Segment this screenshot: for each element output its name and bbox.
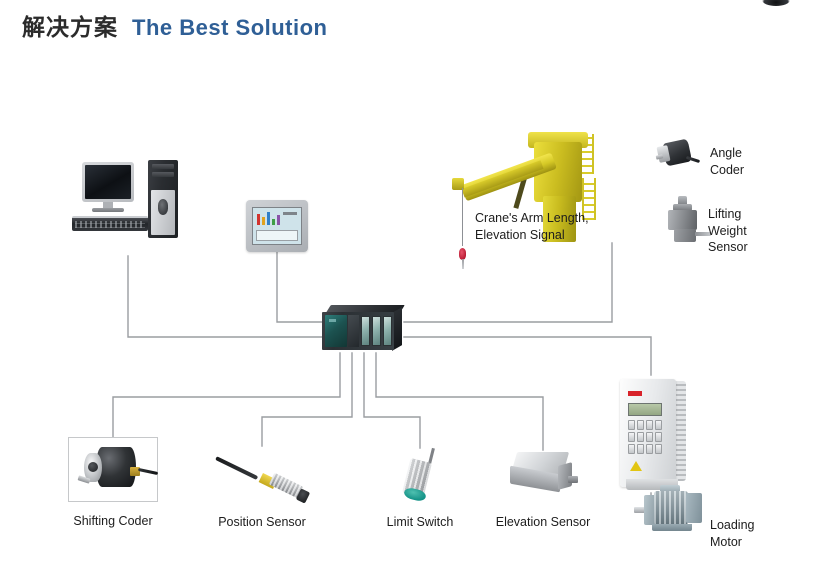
hmi-bezel — [246, 200, 308, 252]
pc-monitor — [82, 162, 134, 202]
crane-hook — [462, 259, 464, 269]
lifting-weight-sensor-label: Lifting Weight Sensor — [708, 206, 748, 256]
elevation-sensor-label: Elevation Sensor — [494, 514, 592, 531]
pc-drive-bays — [152, 164, 174, 186]
position-sensor-assembly — [212, 446, 312, 496]
hmi-value-field — [256, 230, 298, 241]
plc-io-module-3 — [383, 316, 392, 346]
plc-controller[interactable] — [322, 305, 404, 353]
crane: Crane's Arm Length, Elevation Signal — [440, 112, 640, 262]
pc-tower-front-panel — [151, 190, 175, 235]
wire-hmi-to-plc — [277, 252, 322, 322]
hmi-status-bar — [283, 212, 297, 215]
wire-pc-to-plc — [128, 256, 322, 337]
elevation-sensor-connector — [568, 476, 578, 483]
motor-frame — [654, 491, 688, 525]
vfd-enclosure — [620, 379, 676, 487]
vfd-keypad[interactable] — [628, 420, 662, 454]
solution-diagram: 解决方案 The Best Solution — [0, 0, 830, 561]
position-sensor-cable — [215, 456, 258, 480]
motor-fan-cover — [686, 493, 702, 523]
wire-plc-to-shifting-coder — [113, 353, 340, 437]
crane-hoist-cable — [462, 188, 463, 246]
vfd-drive[interactable] — [616, 375, 690, 493]
wire-plc-to-elevation-sensor — [376, 353, 543, 450]
crane-signal-label: Crane's Arm Length, Elevation Signal — [475, 210, 589, 243]
angle-coder-label: Angle Coder — [710, 145, 744, 178]
shifting-coder-label: Shifting Coder — [56, 513, 170, 530]
pc-monitor-base — [92, 208, 124, 212]
position-sensor-label: Position Sensor — [206, 514, 318, 531]
plc-io-module-2 — [372, 316, 381, 346]
load-cell-base — [674, 229, 696, 242]
plc-power-module — [348, 315, 359, 347]
motor-mounting-feet — [652, 524, 692, 531]
hmi-bar-graph — [257, 211, 280, 225]
limit-switch: Limit Switch — [390, 448, 450, 498]
vfd-brand-logo — [628, 391, 642, 396]
plc-cpu-module — [325, 315, 347, 347]
pc-tower — [148, 160, 178, 238]
shifting-coder-hub — [88, 462, 98, 472]
operator-pc[interactable] — [70, 160, 180, 255]
hmi-screen — [252, 207, 302, 245]
limit-switch-label: Limit Switch — [384, 514, 456, 531]
shifting-coder: Shifting Coder — [68, 437, 158, 502]
wire-plc-to-position-sensor — [262, 353, 352, 446]
plc-chassis — [322, 312, 394, 350]
pc-keyboard — [72, 216, 148, 231]
plc-io-module-1 — [361, 316, 370, 346]
angle-coder: Angle Coder — [656, 136, 702, 170]
load-cell-body — [668, 210, 697, 230]
lifting-weight-sensor: Lifting Weight Sensor — [662, 196, 712, 244]
hmi-touch-panel[interactable] — [246, 200, 308, 252]
warning-triangle-icon — [630, 461, 642, 471]
pc-screen — [85, 165, 131, 199]
loading-motor-label: Loading Motor — [710, 517, 755, 550]
vfd-display — [628, 403, 662, 416]
position-sensor: Position Sensor — [212, 446, 312, 496]
wire-plc-to-vfd — [404, 337, 651, 375]
wire-plc-to-limit-switch — [364, 353, 420, 448]
elevation-sensor: Elevation Sensor — [506, 450, 580, 496]
crane-boom-lower-chord — [462, 160, 544, 197]
loading-motor: Loading Motor — [634, 485, 706, 533]
angle-coder-cable — [686, 156, 700, 163]
